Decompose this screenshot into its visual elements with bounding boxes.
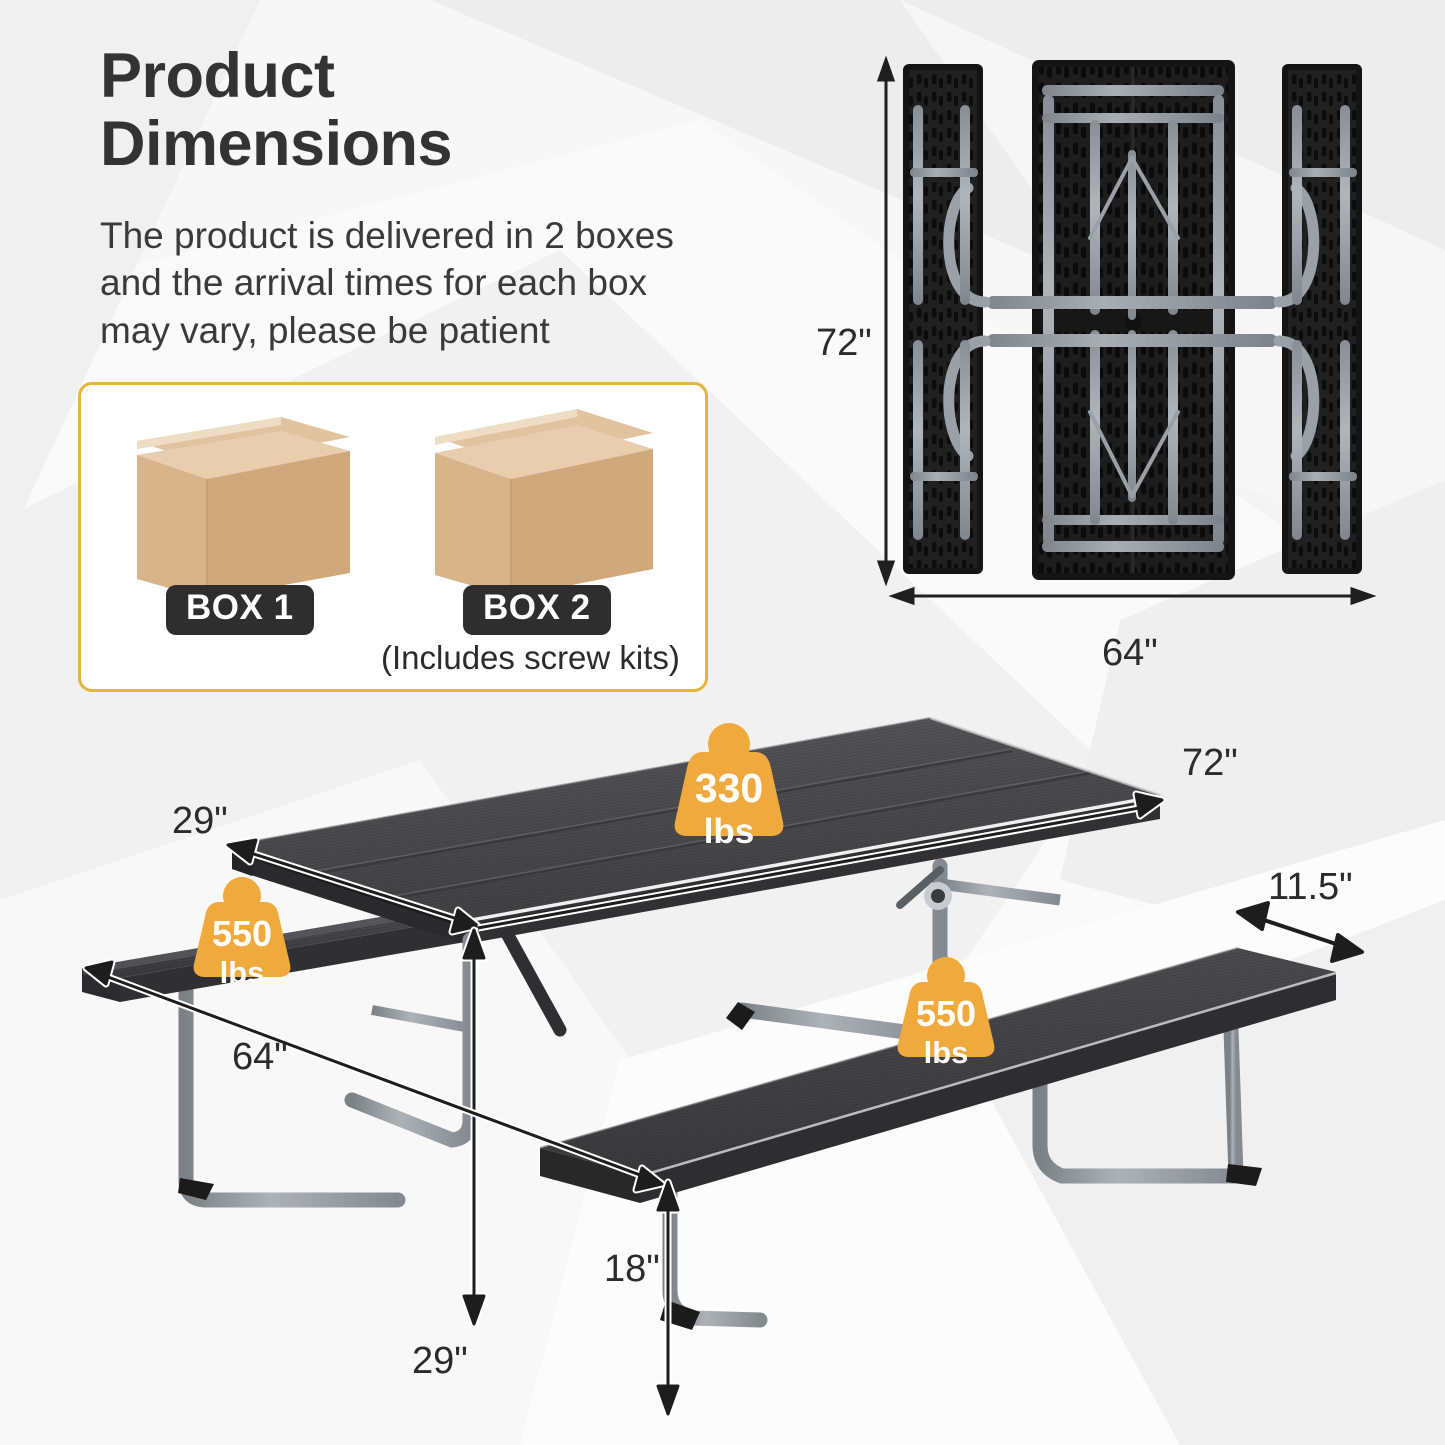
right-bench-capacity-badge: 550 lbs: [890, 952, 1002, 1068]
tabletop-capacity-value: 330: [665, 718, 793, 809]
left-bench-capacity-value: 550: [186, 872, 298, 952]
bench-width-label: 11.5": [1268, 866, 1353, 909]
table-height-label: 29": [412, 1340, 468, 1383]
tabletop-capacity-badge: 330 lbs: [665, 718, 793, 849]
right-bench-capacity-value: 550: [890, 952, 1002, 1032]
table-length-label: 72": [1182, 742, 1238, 785]
left-bench-capacity-unit: lbs: [186, 952, 298, 988]
arrow-bench-width-115: [1238, 903, 1362, 961]
right-bench-capacity-unit: lbs: [890, 1032, 1002, 1068]
table-width-label: 29": [172, 800, 228, 843]
product-dimensions-infographic: Product Dimensions The product is delive…: [0, 0, 1445, 1445]
bench-length-label: 64": [232, 1036, 288, 1079]
left-bench-capacity-badge: 550 lbs: [186, 872, 298, 988]
tabletop-capacity-unit: lbs: [665, 809, 793, 849]
bench-height-label: 18": [604, 1248, 660, 1291]
